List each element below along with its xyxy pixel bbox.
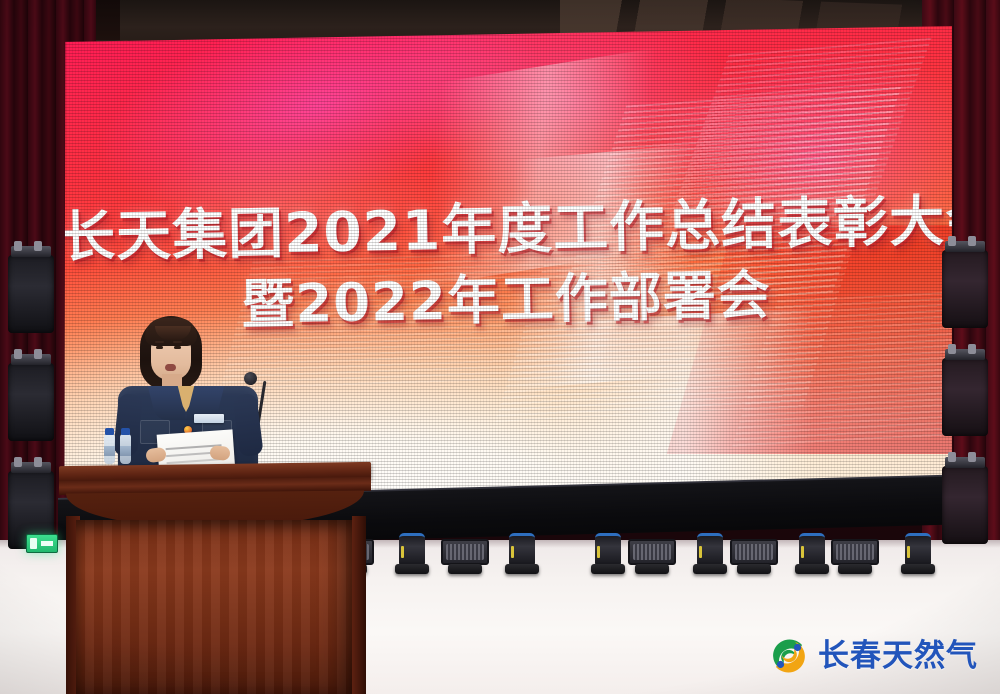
photo-scene: 长天集团2021年度工作总结表彰大会 暨2022年工作部署会	[0, 0, 1000, 694]
water-bottle	[104, 434, 115, 464]
name-badge	[194, 414, 224, 423]
eyebrow-left	[155, 341, 164, 343]
eye-left	[156, 346, 163, 349]
truss-fixture	[8, 255, 54, 333]
speaker-person	[118, 316, 258, 476]
mouth	[165, 364, 176, 371]
hair-fringe	[145, 318, 197, 346]
water-bottle	[120, 434, 131, 464]
hand-right	[209, 445, 230, 461]
watermark: 长春天然气	[761, 632, 986, 680]
watermark-brand-text: 长春天然气	[818, 641, 978, 672]
truss-fixture	[8, 363, 54, 441]
truss-fixture	[942, 358, 988, 436]
podium-front-panel	[76, 520, 354, 694]
exit-sign-icon	[26, 534, 58, 553]
stage-light-row	[350, 512, 960, 574]
truss-fixture	[942, 250, 988, 328]
truss-fixture	[942, 466, 988, 544]
company-logo-icon	[769, 636, 809, 676]
lighting-truss-right	[940, 250, 992, 590]
eye-right	[174, 346, 181, 349]
wooden-podium	[60, 464, 370, 694]
podium-edge-right	[352, 516, 366, 694]
eyebrow-right	[173, 341, 182, 343]
